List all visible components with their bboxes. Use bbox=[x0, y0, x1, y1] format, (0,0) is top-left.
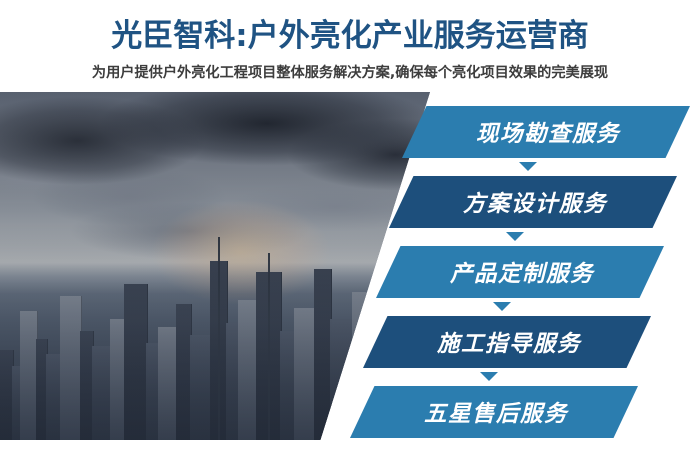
header: 光臣智科:户外亮化产业服务运营商 为用户提供户外亮化工程项目整体服务解决方案,确… bbox=[0, 0, 700, 92]
funnel-step-2-label: 方案设计服务 bbox=[463, 186, 607, 218]
triangle-down-icon bbox=[506, 232, 524, 241]
funnel-step-3[interactable]: 产品定制服务 bbox=[376, 246, 664, 298]
funnel-step-3-label: 产品定制服务 bbox=[450, 256, 594, 288]
funnel-step-1[interactable]: 现场勘查服务 bbox=[402, 106, 690, 158]
page-subtitle: 为用户提供户外亮化工程项目整体服务解决方案,确保每个亮化项目效果的完美展现 bbox=[0, 63, 700, 83]
poster-canvas: 光臣智科:户外亮化产业服务运营商 为用户提供户外亮化工程项目整体服务解决方案,确… bbox=[0, 0, 700, 450]
triangle-down-icon bbox=[480, 372, 498, 381]
triangle-down-icon bbox=[519, 162, 537, 171]
triangle-down-icon bbox=[493, 302, 511, 311]
page-title: 光臣智科:户外亮化产业服务运营商 bbox=[0, 16, 700, 56]
funnel-step-5[interactable]: 五星售后服务 bbox=[350, 386, 638, 438]
funnel-step-1-label: 现场勘查服务 bbox=[476, 116, 620, 148]
funnel-step-4-label: 施工指导服务 bbox=[437, 326, 581, 358]
service-funnel: 现场勘查服务 方案设计服务 产品定制服务 施工指导服务 五星售后服务 bbox=[0, 92, 700, 440]
funnel-step-4[interactable]: 施工指导服务 bbox=[363, 316, 651, 368]
bottom-margin bbox=[0, 440, 700, 450]
funnel-step-2[interactable]: 方案设计服务 bbox=[389, 176, 677, 228]
funnel-step-5-label: 五星售后服务 bbox=[424, 396, 568, 428]
